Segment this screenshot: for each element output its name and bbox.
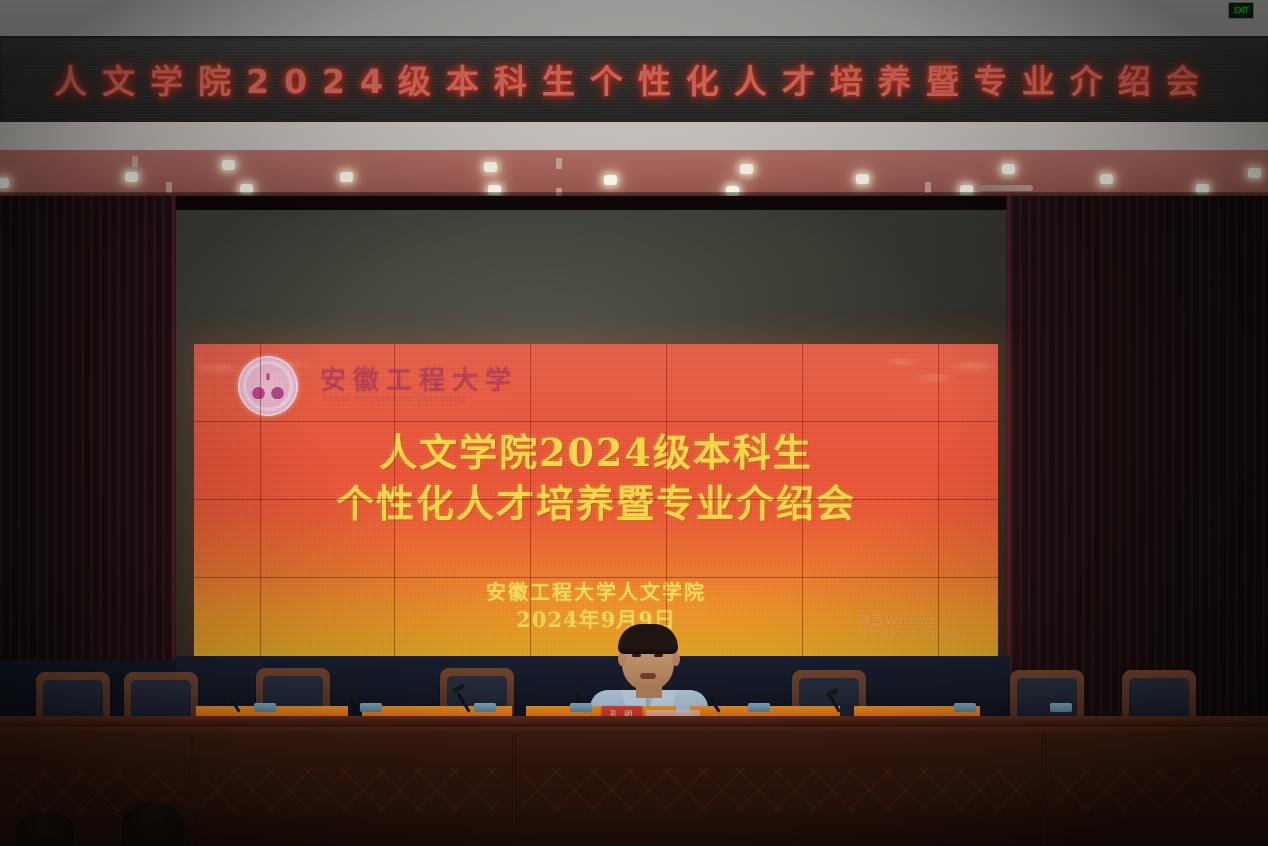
led-panel-seam bbox=[802, 344, 803, 656]
dais-chair bbox=[1122, 670, 1196, 718]
university-name-cn: 安徽工程大学 bbox=[320, 360, 518, 397]
speaker-mouth bbox=[640, 673, 656, 679]
decorative-cloud-right-icon bbox=[876, 346, 996, 402]
audience-head bbox=[122, 802, 184, 846]
desk-microphone-base bbox=[570, 703, 592, 712]
watermark-line2: 转到"设置"以激活 Windows。 bbox=[859, 628, 976, 640]
led-panel-seam bbox=[260, 344, 261, 656]
ceiling-spot-light bbox=[340, 172, 353, 182]
sprinkler-head bbox=[556, 158, 562, 169]
desk-microphone-base bbox=[254, 703, 276, 712]
exit-sign-label: EXIT bbox=[1234, 6, 1248, 15]
speaker-hair bbox=[618, 624, 678, 654]
ceiling-spot-light bbox=[960, 185, 973, 195]
desk-microphone-base bbox=[954, 703, 976, 712]
dais-chair bbox=[124, 672, 198, 720]
led-title-block: 人文学院2024级本科生 个性化人才培养暨专业介绍会 bbox=[194, 428, 998, 530]
dais-panel-seam bbox=[190, 733, 194, 846]
led-title-line1: 人文学院2024级本科生 bbox=[194, 428, 998, 478]
dais-front-pattern bbox=[1052, 768, 1258, 812]
ceiling-spot-light bbox=[856, 174, 869, 184]
overhead-banner-text: 人文学院2024级本科生个性化人才培养暨专业介绍会 bbox=[0, 55, 1268, 103]
watermark-line1: 激活 Windows bbox=[859, 612, 976, 628]
ceiling-spot-light bbox=[488, 185, 501, 195]
exit-sign: EXIT bbox=[1228, 2, 1254, 19]
seal-glyph bbox=[249, 373, 287, 399]
led-panel-seam bbox=[394, 344, 395, 656]
dais-chair bbox=[1010, 670, 1084, 718]
speaker-eye-right bbox=[654, 654, 663, 657]
ceiling-spot-light bbox=[0, 178, 9, 188]
conference-hall-photo: 人文学院2024级本科生个性化人才培养暨专业介绍会 EXIT bbox=[0, 0, 1268, 846]
wall-band bbox=[0, 122, 1268, 150]
dais-panel-seam bbox=[1042, 733, 1046, 846]
ceiling-spot-light bbox=[740, 164, 753, 174]
ceiling-soffit bbox=[0, 150, 1268, 202]
led-panel-seam bbox=[666, 344, 667, 656]
desk-microphone-base bbox=[474, 703, 496, 712]
dais-front-pattern bbox=[522, 768, 1030, 812]
sprinkler-head bbox=[925, 182, 931, 193]
ceiling-spot-light bbox=[1100, 174, 1113, 184]
ceiling-band bbox=[0, 0, 1268, 36]
led-panel-seam bbox=[194, 577, 998, 578]
led-panel-seam bbox=[938, 344, 939, 656]
ceiling-spot-light bbox=[125, 172, 138, 182]
speaker-ear-left bbox=[618, 652, 626, 666]
led-panel-seam bbox=[530, 344, 531, 656]
dais-front-pattern bbox=[200, 768, 500, 812]
windows-activation-watermark: 激活 Windows 转到"设置"以激活 Windows。 bbox=[859, 612, 976, 640]
desk-microphone-base bbox=[748, 703, 770, 712]
led-subtitle-line1: 安徽工程大学人文学院 bbox=[194, 579, 998, 606]
speaker-eye-left bbox=[632, 654, 641, 657]
led-title-line2: 个性化人才培养暨专业介绍会 bbox=[194, 478, 998, 530]
speaker-brow-left bbox=[631, 649, 642, 651]
dais-panel-seam bbox=[512, 733, 516, 846]
sprinkler-head bbox=[166, 182, 172, 193]
audience-head bbox=[16, 812, 74, 846]
university-seal-icon bbox=[238, 356, 298, 416]
speaker-brow-right bbox=[653, 649, 664, 651]
ceiling-spot-light bbox=[240, 184, 253, 194]
ceiling-spot-light bbox=[484, 162, 497, 172]
led-panel-seam bbox=[194, 499, 998, 500]
ceiling-spot-light bbox=[726, 186, 739, 196]
led-video-wall: 安徽工程大学 Anhui Polytechnic University 人文学院… bbox=[194, 344, 998, 656]
ceiling-spot-light bbox=[222, 160, 235, 170]
sprinkler-head bbox=[132, 156, 138, 167]
led-panel-seam bbox=[194, 421, 998, 422]
ceiling-spot-light bbox=[1248, 168, 1261, 178]
dais-chair bbox=[36, 672, 110, 720]
ceiling-spot-light bbox=[604, 175, 617, 185]
ceiling-fixture-bar bbox=[975, 185, 1033, 191]
desk-microphone-base bbox=[360, 703, 382, 712]
overhead-banner: 人文学院2024级本科生个性化人才培养暨专业介绍会 bbox=[0, 36, 1268, 122]
ceiling-spot-light bbox=[1002, 164, 1015, 174]
desk-microphone-base bbox=[1050, 703, 1072, 712]
ceiling-spot-light bbox=[1196, 184, 1209, 194]
speaker-ear-right bbox=[672, 652, 680, 666]
